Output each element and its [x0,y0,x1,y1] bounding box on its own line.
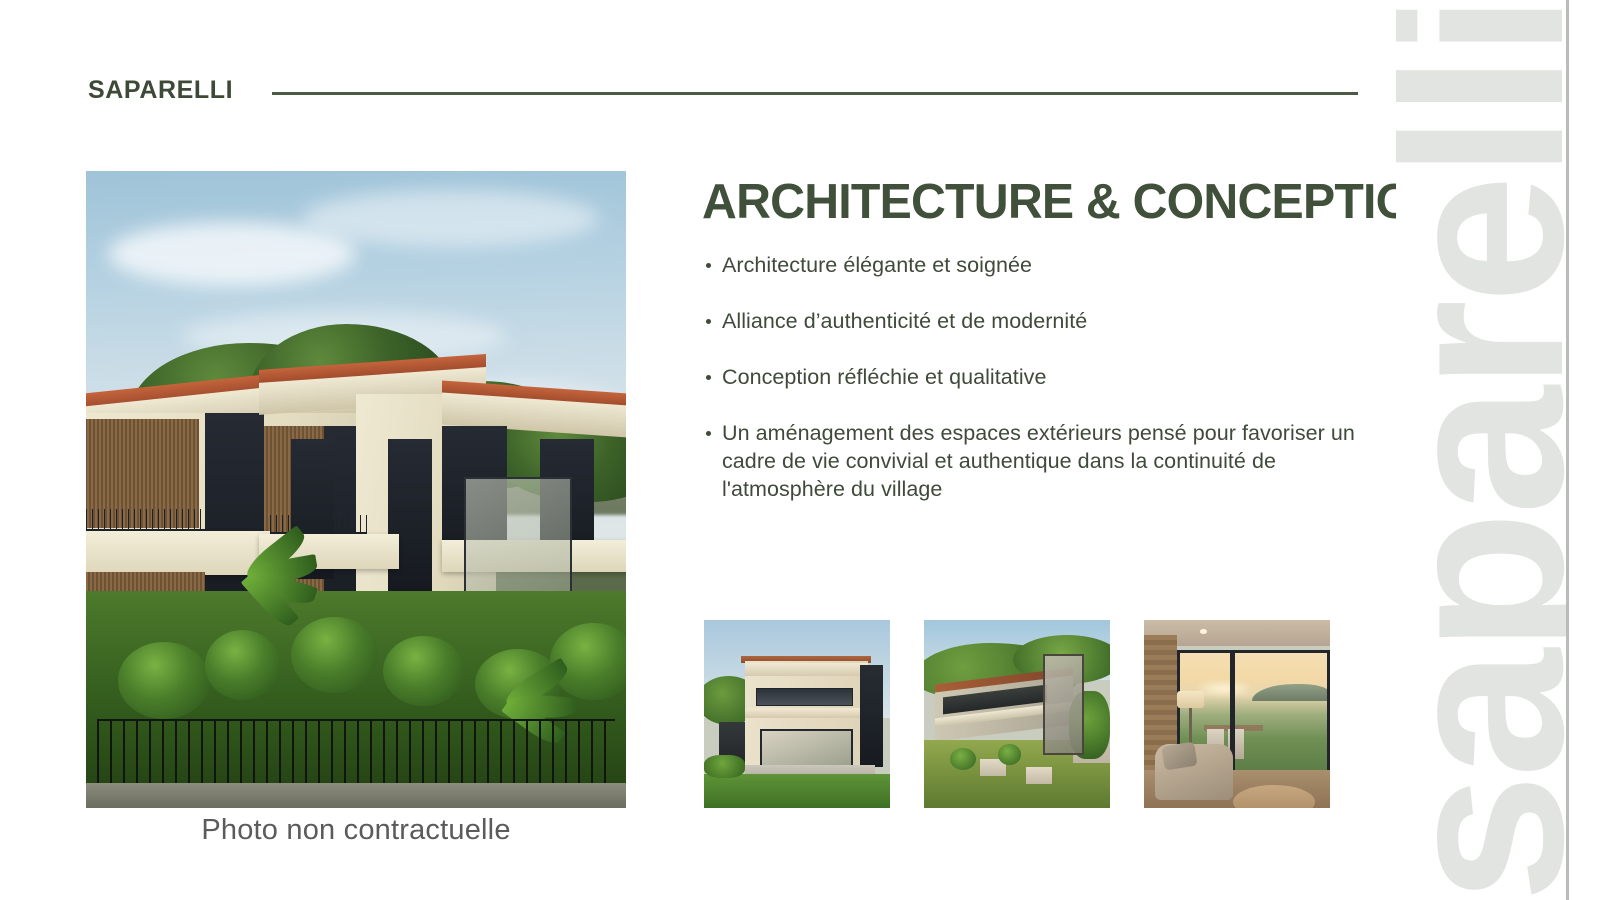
header-divider [272,92,1358,95]
bullet-list: Architecture élégante et soignée Allianc… [702,252,1362,504]
balcony-railing [270,515,367,534]
bullet-dot-icon [706,263,711,268]
glass-enclosure [1043,654,1084,756]
slide-root: SAPARELLI [0,0,1600,900]
garden-bush [118,642,210,718]
balcony-railing [86,509,205,531]
garden-bush [205,630,281,700]
thumbnail-canvas [1144,620,1330,808]
page-title: SAPARELLI [88,78,233,103]
upper-window [756,688,853,707]
walkway [86,783,626,808]
list-item: Architecture élégante et soignée [702,252,1362,280]
bullet-dot-icon [706,431,711,436]
thumbnail-villa-facade [704,620,890,808]
thumbnail-hillside-residences [924,620,1110,808]
list-item: Alliance d’authenticité et de modernité [702,308,1362,336]
dark-facade-panel [860,665,882,767]
roof-soffit [745,663,868,676]
list-item-label: Un aménagement des espaces extérieurs pe… [722,421,1355,501]
list-item: Conception réfléchie et qualitative [702,364,1362,392]
list-item-label: Architecture élégante et soignée [722,253,1032,277]
lawn [704,774,890,808]
bullet-dot-icon [706,375,711,380]
section-title: ARCHITECTURE & CONCEPTION [702,176,1447,229]
watermark-band: saparelli [1396,0,1570,900]
planter-box [1026,767,1052,784]
thumbnail-canvas [924,620,1110,808]
balcony-slab [86,531,270,576]
hero-render-canvas [86,171,626,808]
garden-bush [291,617,377,693]
list-item: Un aménagement des espaces extérieurs pe… [702,420,1362,504]
balcony-slab [745,708,868,717]
garden-bush [998,744,1020,765]
hero-caption: Photo non contractuelle [86,814,626,847]
list-item-label: Alliance d’authenticité et de modernité [722,309,1087,333]
cloud-shape [302,190,599,247]
garden-bush [383,636,464,706]
garden-fence [97,719,615,783]
right-edge-margin [1569,0,1600,900]
thumbnail-canvas [704,620,890,808]
floor-lamp-shade [1177,691,1203,708]
bullet-dot-icon [706,319,711,324]
list-item-label: Conception réfléchie et qualitative [722,365,1046,389]
watermark-text: saparelli [1396,0,1570,900]
sliding-door [760,729,853,767]
thumbnail-strip [704,620,1330,808]
thumbnail-interior-living-room [1144,620,1330,808]
hero-image [86,171,626,808]
garden-bush [704,755,745,778]
